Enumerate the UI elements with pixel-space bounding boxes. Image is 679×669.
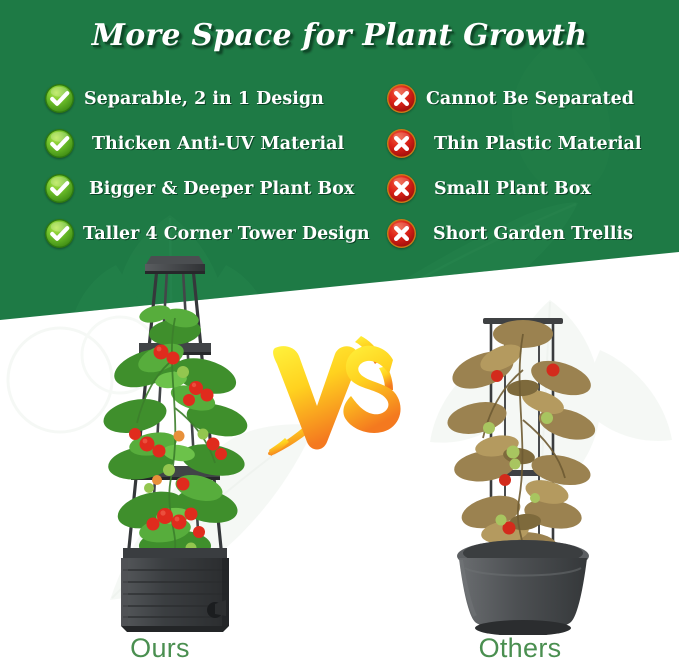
x-circle-icon bbox=[386, 83, 417, 114]
list-item: Short Garden Trellis bbox=[386, 211, 676, 256]
x-circle-icon bbox=[386, 128, 417, 159]
check-circle-icon bbox=[44, 173, 75, 204]
square-planter-box bbox=[121, 548, 229, 632]
list-item: Cannot Be Separated bbox=[386, 76, 676, 121]
ours-caption: Ours bbox=[0, 633, 320, 664]
x-circle-icon bbox=[386, 218, 417, 249]
feature-comparison: Separable, 2 in 1 Design Thicken Anti-UV… bbox=[0, 76, 679, 256]
ours-feature-list: Separable, 2 in 1 Design Thicken Anti-UV… bbox=[44, 76, 384, 256]
check-circle-icon bbox=[44, 218, 75, 249]
vs-letter-v bbox=[273, 346, 358, 449]
list-item: Small Plant Box bbox=[386, 166, 676, 211]
tower-top-cap bbox=[145, 256, 205, 274]
x-circle-icon bbox=[386, 173, 417, 204]
list-item-label: Thin Plastic Material bbox=[434, 134, 641, 154]
list-item-label: Bigger & Deeper Plant Box bbox=[89, 179, 354, 199]
list-item: Separable, 2 in 1 Design bbox=[44, 76, 384, 121]
list-item: Bigger & Deeper Plant Box bbox=[44, 166, 384, 211]
ours-product-image bbox=[95, 248, 255, 638]
tomato-foliage-withered bbox=[445, 320, 599, 560]
page-title: More Space for Plant Growth bbox=[0, 18, 679, 53]
list-item: Thicken Anti-UV Material bbox=[44, 121, 384, 166]
list-item-label: Separable, 2 in 1 Design bbox=[84, 89, 324, 109]
list-item-label: Thicken Anti-UV Material bbox=[92, 134, 344, 154]
others-feature-list: Cannot Be Separated Thin Plastic Materia… bbox=[386, 76, 676, 256]
infographic-page: More Space for Plant Growth bbox=[0, 0, 679, 669]
others-caption: Others bbox=[360, 633, 679, 664]
list-item-label: Small Plant Box bbox=[434, 179, 591, 199]
others-product-image bbox=[435, 300, 610, 635]
round-plastic-pot bbox=[457, 540, 589, 635]
check-circle-icon bbox=[44, 83, 75, 114]
list-item-label: Short Garden Trellis bbox=[433, 224, 633, 244]
check-circle-icon bbox=[44, 128, 75, 159]
list-item-label: Cannot Be Separated bbox=[426, 89, 634, 109]
list-item-label: Taller 4 Corner Tower Design bbox=[83, 224, 370, 244]
vs-divider bbox=[265, 330, 405, 460]
list-item: Thin Plastic Material bbox=[386, 121, 676, 166]
